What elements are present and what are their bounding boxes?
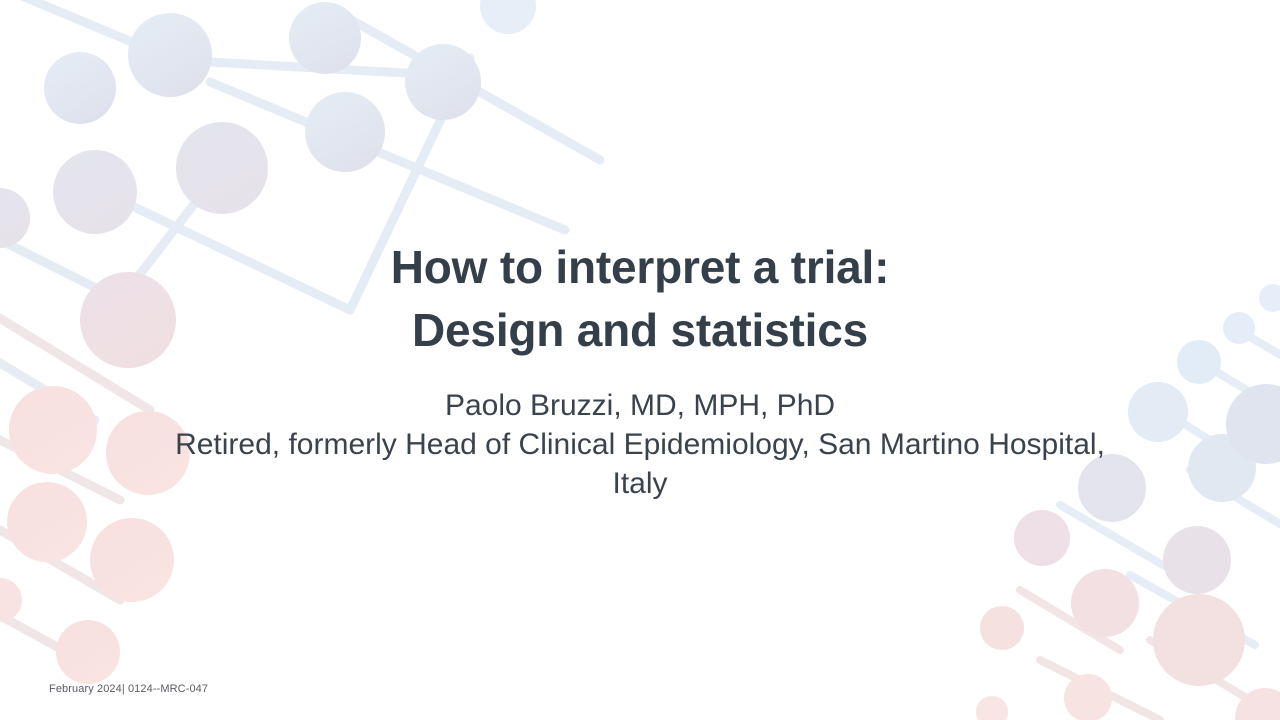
subtitle-line-1: Paolo Bruzzi, MD, MPH, PhD xyxy=(90,386,1190,425)
title-line-2: Design and statistics xyxy=(140,299,1140,362)
subtitle-line-2: Retired, formerly Head of Clinical Epide… xyxy=(90,425,1190,464)
slide-content: How to interpret a trial: Design and sta… xyxy=(0,0,1280,720)
presenter-subtitle: Paolo Bruzzi, MD, MPH, PhD Retired, form… xyxy=(90,386,1190,503)
page-title: How to interpret a trial: Design and sta… xyxy=(140,236,1140,362)
title-line-1: How to interpret a trial: xyxy=(140,236,1140,299)
title-slide: How to interpret a trial: Design and sta… xyxy=(0,0,1280,720)
footer-reference-code: February 2024| 0124--MRC-047 xyxy=(49,683,208,695)
subtitle-line-3: Italy xyxy=(90,464,1190,503)
